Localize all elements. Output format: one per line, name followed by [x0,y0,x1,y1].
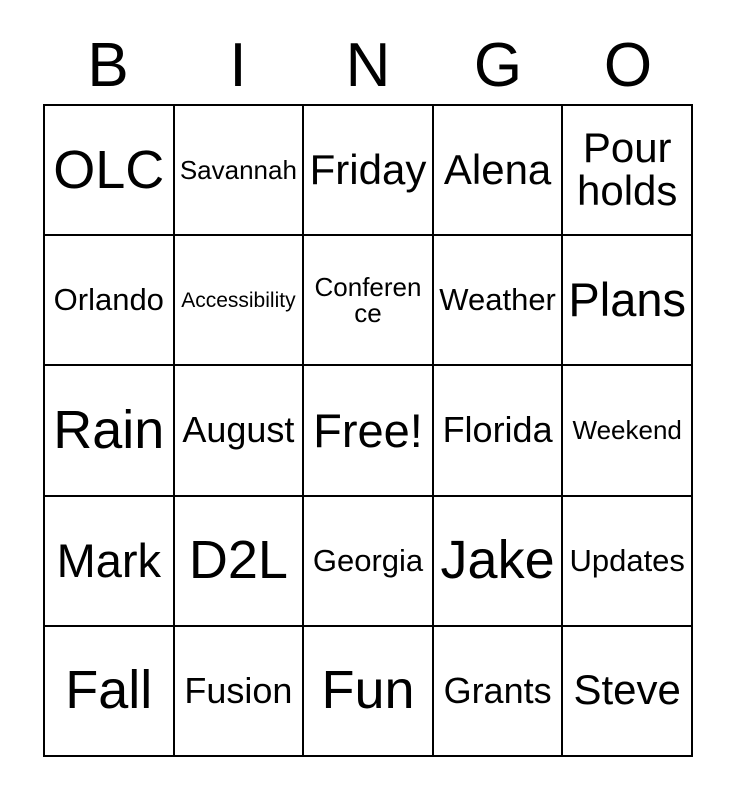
bingo-cell[interactable]: Rain [45,366,175,496]
bingo-card: B I N G O OLCSavannahFridayAlenaPour hol… [0,0,736,800]
bingo-cell-label: Steve [567,669,687,712]
bingo-cell[interactable]: Fusion [175,627,305,757]
bingo-cell[interactable]: OLC [45,106,175,236]
bingo-cell[interactable]: Updates [563,497,693,627]
bingo-cell[interactable]: Plans [563,236,693,366]
bingo-cell[interactable]: Jake [434,497,564,627]
bingo-cell[interactable]: D2L [175,497,305,627]
bingo-cell-free-space[interactable]: Free! [304,366,434,496]
bingo-cell-label: Jake [438,533,558,588]
bingo-cell-label: Conference [308,274,428,327]
bingo-cell-label: August [179,412,299,449]
bingo-cell-label: Fusion [179,673,299,710]
bingo-cell[interactable]: August [175,366,305,496]
bingo-cell[interactable]: Florida [434,366,564,496]
bingo-cell-label: Florida [438,412,558,449]
bingo-cell-label: Plans [567,276,687,324]
bingo-cell-label: OLC [49,143,169,198]
header-letter-b: B [43,30,173,102]
bingo-cell[interactable]: Accessibility [175,236,305,366]
bingo-cell-label: Friday [308,149,428,192]
bingo-cell-label: Orlando [49,284,169,316]
bingo-cell[interactable]: Steve [563,627,693,757]
bingo-cell-label: Savannah [179,157,299,184]
bingo-cell[interactable]: Friday [304,106,434,236]
bingo-cell-label: Fun [308,663,428,718]
bingo-cell-label: Alena [438,149,558,192]
bingo-cell[interactable]: Alena [434,106,564,236]
header-letter-g: G [433,30,563,102]
bingo-cell[interactable]: Weather [434,236,564,366]
bingo-cell-label: Updates [567,545,687,577]
bingo-cell[interactable]: Mark [45,497,175,627]
bingo-cell[interactable]: Weekend [563,366,693,496]
bingo-cell[interactable]: Conference [304,236,434,366]
bingo-cell[interactable]: Pour holds [563,106,693,236]
bingo-cell[interactable]: Savannah [175,106,305,236]
bingo-cell-label: Mark [49,537,169,585]
bingo-cell[interactable]: Fall [45,627,175,757]
bingo-cell[interactable]: Georgia [304,497,434,627]
bingo-cell-label: Accessibility [179,290,299,311]
bingo-cell[interactable]: Grants [434,627,564,757]
bingo-cell-label: D2L [179,533,299,588]
bingo-cell-label: Weekend [567,417,687,444]
header-letter-o: O [563,30,693,102]
bingo-cell[interactable]: Fun [304,627,434,757]
bingo-cell-label: Georgia [308,545,428,577]
bingo-header-row: B I N G O [43,30,693,102]
header-letter-n: N [303,30,433,102]
bingo-cell-label: Fall [49,663,169,718]
bingo-grid: OLCSavannahFridayAlenaPour holdsOrlandoA… [43,104,693,757]
bingo-cell-label: Free! [308,407,428,455]
bingo-cell-label: Grants [438,673,558,710]
header-letter-i: I [173,30,303,102]
bingo-cell[interactable]: Orlando [45,236,175,366]
bingo-cell-label: Rain [49,403,169,458]
bingo-cell-label: Pour holds [567,127,687,213]
bingo-cell-label: Weather [438,284,558,316]
